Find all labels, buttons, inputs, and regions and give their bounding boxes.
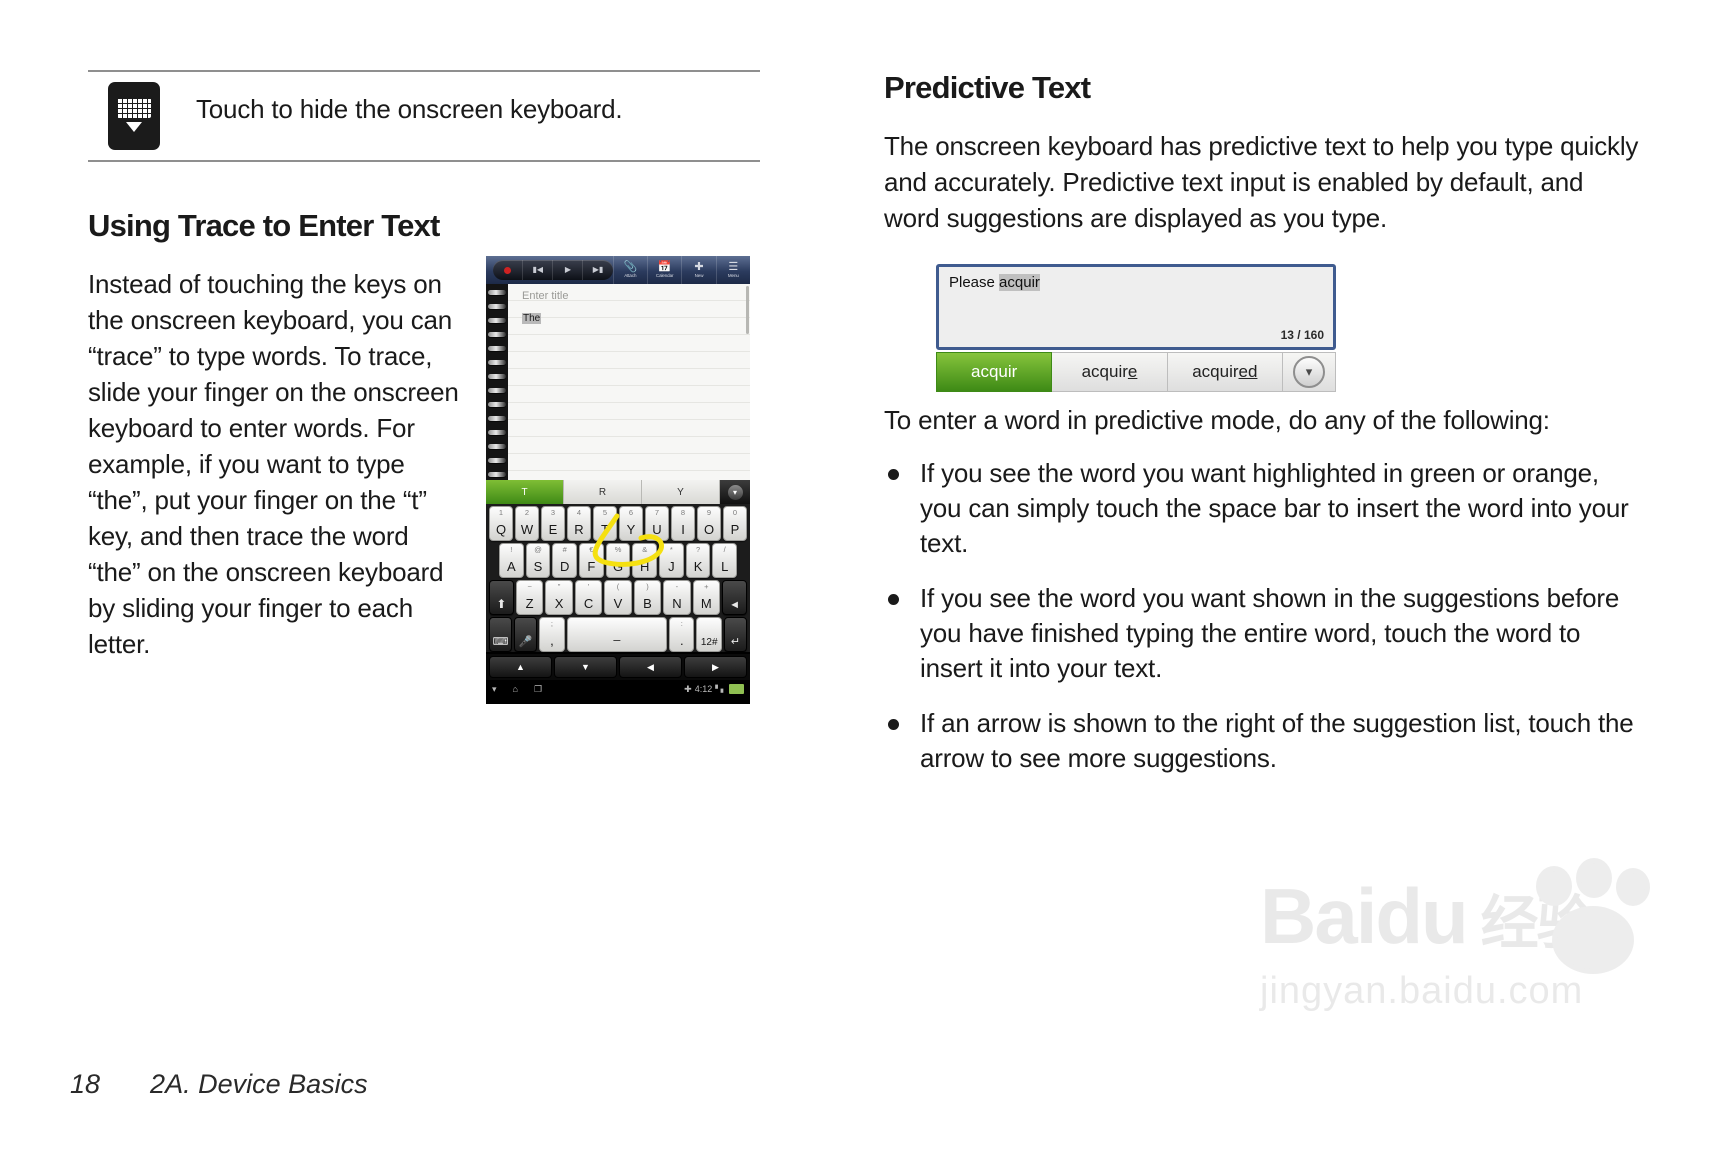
key-q[interactable]: 1Q [489,506,513,541]
key-h[interactable]: &H [632,543,657,578]
page-number: 18 [70,1069,100,1100]
battery-icon [729,684,744,694]
spiral-binding [486,284,508,480]
predictive-bullet-list: If you see the word you want highlighted… [884,456,1644,776]
chevron-down-icon: ▾ [1293,356,1325,388]
watermark-url: jingyan.baidu.com [1260,970,1680,1013]
key-j[interactable]: *J [659,543,684,578]
phone-toolbar: ▮◀ ▶ ▶▮ 📎 Attach 📅 Calendar ✚ New ☰ Menu [486,256,750,284]
note-paper[interactable]: Enter title The [508,284,750,480]
trace-paragraph: Instead of touching the keys on the onsc… [88,266,460,662]
predictive-suggestion-bar[interactable]: acquir acquire acquired ▾ [936,352,1336,392]
backspace-icon[interactable]: ◄ [722,580,747,615]
callout-box: Touch to hide the onscreen keyboard. [88,70,760,162]
shift-icon[interactable]: ⬆ [489,580,514,615]
signal-icon: ▘▖ [715,685,726,693]
right-column: Predictive Text The onscreen keyboard ha… [884,70,1644,796]
key-k[interactable]: ?K [686,543,711,578]
keyboard-row-4: ⌨ 🎤 ;, ⎯ :. 12# ↵ [486,617,750,652]
predictive-suggestion-2[interactable]: acquired [1168,352,1283,392]
suggestion-2[interactable]: Y [642,480,720,504]
key-p[interactable]: 0P [723,506,747,541]
key-symbols[interactable]: 12# [696,617,721,652]
key-l[interactable]: /L [712,543,737,578]
key-i[interactable]: 8I [671,506,695,541]
bullet-dot [888,719,899,730]
suggestion-1[interactable]: R [564,480,642,504]
predictive-typed-text: Please acquir [949,274,1040,291]
scrollbar[interactable] [746,286,749,334]
menu-icon: ☰ [728,262,738,273]
typed-prefix: Please [949,274,999,291]
recents-icon[interactable]: ❐ [534,684,542,695]
play-icon[interactable]: ▶ [553,260,583,280]
next-icon[interactable]: ▶▮ [583,260,612,280]
key-a[interactable]: !A [499,543,524,578]
suggestion-0[interactable]: T [486,480,564,504]
manual-page: Touch to hide the onscreen keyboard. Usi… [0,0,1728,1152]
predictive-suggestion-1[interactable]: acquire [1052,352,1167,392]
keyboard-row-1: 1Q 2W 3E 4R 5T 6Y 7U 8I 9O 0P [486,506,750,541]
key-semicolon-comma[interactable]: ;, [539,617,564,652]
bullet-dot [888,594,899,605]
suggestion-strip[interactable]: T R Y ▾ [486,480,750,504]
bullet-dot [888,469,899,480]
predictive-paragraph: The onscreen keyboard has predictive tex… [884,128,1644,236]
predictive-text-widget: Please acquir 13 / 160 acquir acquire ac… [936,264,1336,396]
key-x[interactable]: "X [545,580,572,615]
keyboard-grid-icon [117,98,151,118]
phone-statusbar: ▾ ⌂ ❐ ✚ 4:12 ▘▖ [486,680,750,698]
key-c[interactable]: 'C [575,580,602,615]
key-b[interactable]: )B [634,580,661,615]
key-y[interactable]: 6Y [619,506,643,541]
key-f[interactable]: €F [579,543,604,578]
home-icon[interactable]: ⌂ [513,684,518,694]
key-g[interactable]: %G [606,543,631,578]
section-heading-trace: Using Trace to Enter Text [88,208,760,244]
enter-icon[interactable]: ↵ [724,617,747,652]
key-s[interactable]: @S [526,543,551,578]
clock-time: 4:12 [695,684,713,694]
watermark-brand: Baidu经验 [1260,876,1680,964]
predictive-intro: To enter a word in predictive mode, do a… [884,402,1644,438]
predictive-suggestion-0[interactable]: acquir [936,352,1052,392]
down-triangle-icon [126,122,142,132]
gps-icon: ✚ [684,684,692,695]
record-icon[interactable] [493,260,523,280]
key-n[interactable]: -N [663,580,690,615]
hide-keyboard-icon [108,82,160,150]
toolbar-menu[interactable]: ☰ Menu [716,256,750,284]
key-w[interactable]: 2W [515,506,539,541]
toolbar-calendar[interactable]: 📅 Calendar [647,256,681,284]
key-d[interactable]: #D [552,543,577,578]
back-icon[interactable]: ▾ [492,684,497,695]
toolbar-attach[interactable]: 📎 Attach [613,256,647,284]
section-heading-predictive: Predictive Text [884,70,1644,106]
key-z[interactable]: ~Z [516,580,543,615]
predictive-more-button[interactable]: ▾ [1283,352,1336,392]
calendar-icon: 📅 [658,262,672,273]
typed-word: acquir [999,274,1040,291]
predictive-textfield[interactable]: Please acquir 13 / 160 [936,264,1336,350]
toolbar-new[interactable]: ✚ New [681,256,715,284]
key-m[interactable]: +M [693,580,720,615]
chevron-down-icon: ▾ [728,485,743,500]
list-item: If an arrow is shown to the right of the… [884,706,1644,776]
transport-controls[interactable]: ▮◀ ▶ ▶▮ [493,260,613,280]
more-suggestions-button[interactable]: ▾ [720,480,750,504]
list-item: If you see the word you want highlighted… [884,456,1644,561]
microphone-icon[interactable]: 🎤 [514,617,537,652]
note-area: Enter title The [486,284,750,480]
arrow-down-icon[interactable]: ▼ [554,656,617,678]
onscreen-keyboard[interactable]: 1Q 2W 3E 4R 5T 6Y 7U 8I 9O 0P !A @S #D €… [486,504,750,652]
arrow-left-icon[interactable]: ◀ [619,656,682,678]
new-icon: ✚ [694,262,703,273]
note-title-input[interactable]: Enter title [522,290,568,302]
keyboard-row-2: !A @S #D €F %G &H *J ?K /L [486,543,750,578]
key-r[interactable]: 4R [567,506,591,541]
key-v[interactable]: (V [604,580,631,615]
key-colon-period[interactable]: :. [669,617,694,652]
paw-print-icon [1518,862,1668,972]
note-typed-text: The [522,313,541,324]
hide-keyboard-icon[interactable]: ⌨ [489,617,512,652]
previous-icon[interactable]: ▮◀ [523,260,553,280]
callout-text: Touch to hide the onscreen keyboard. [196,94,622,125]
char-counter: 13 / 160 [1281,328,1324,342]
key-u[interactable]: 7U [645,506,669,541]
chapter-title: 2A. Device Basics [150,1069,368,1100]
key-o[interactable]: 9O [697,506,721,541]
navigation-keys: ▲ ▼ ◀ ▶ [486,654,750,680]
attach-icon: 📎 [623,262,637,273]
arrow-up-icon[interactable]: ▲ [489,656,552,678]
page-footer: 18 2A. Device Basics [70,1069,368,1100]
baidu-watermark: Baidu经验 jingyan.baidu.com [1260,876,1680,1066]
phone-screenshot: ▮◀ ▶ ▶▮ 📎 Attach 📅 Calendar ✚ New ☰ Menu [486,256,750,704]
key-t[interactable]: 5T [593,506,617,541]
space-bar[interactable]: ⎯ [567,617,667,652]
list-item: If you see the word you want shown in th… [884,581,1644,686]
keyboard-row-3: ⬆ ~Z "X 'C (V )B -N +M ◄ [486,580,750,615]
arrow-right-icon[interactable]: ▶ [684,656,747,678]
key-e[interactable]: 3E [541,506,565,541]
